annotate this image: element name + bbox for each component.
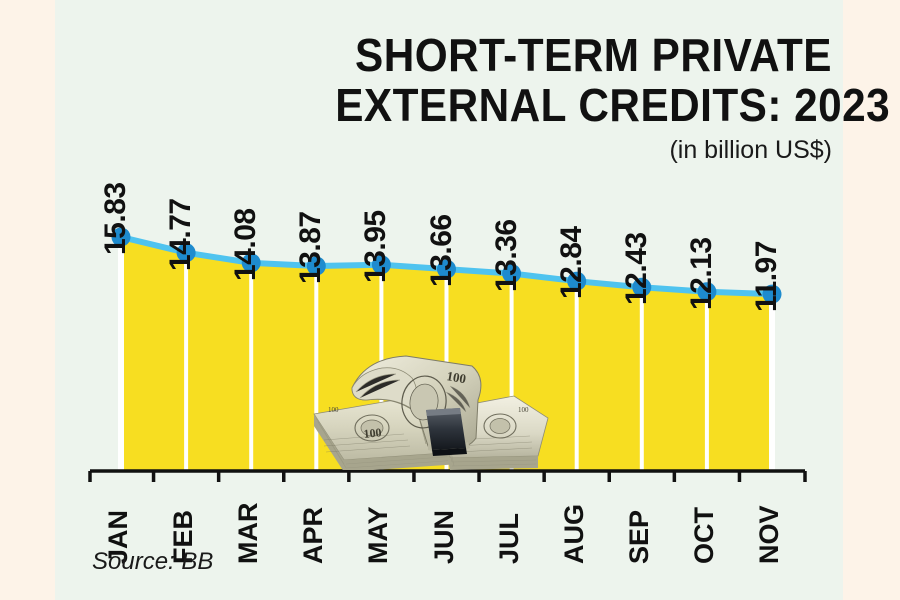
month-label-aug: AUG [559, 504, 590, 564]
month-label-jul: JUL [494, 513, 525, 564]
svg-text:100: 100 [363, 425, 382, 441]
svg-text:100: 100 [518, 406, 529, 414]
data-value-label: 14.77 [164, 198, 198, 271]
page-title-line-1: SHORT-TERM PRIVATE [335, 30, 832, 80]
x-axis [90, 471, 805, 482]
title-block: SHORT-TERM PRIVATE EXTERNAL CREDITS: 202… [292, 30, 832, 165]
data-value-label: 15.83 [99, 182, 133, 255]
month-label-jun: JUN [429, 510, 460, 564]
month-label-nov: NOV [754, 505, 785, 564]
month-label-may: MAY [363, 506, 394, 564]
money-photo: 100 100 100 [300, 352, 558, 470]
month-label-oct: OCT [689, 507, 720, 564]
infographic-page: SHORT-TERM PRIVATE EXTERNAL CREDITS: 202… [0, 0, 900, 600]
page-title-line-2: EXTERNAL CREDITS: 2023 [335, 80, 832, 130]
money-clip [426, 408, 467, 456]
data-value-label: 12.13 [685, 237, 719, 310]
month-label-sep: SEP [624, 510, 655, 564]
data-value-label: 13.66 [425, 214, 459, 287]
chart-subtitle: (in billion US$) [292, 136, 832, 165]
svg-text:100: 100 [328, 406, 339, 414]
data-value-label: 13.36 [490, 219, 524, 292]
month-label-mar: MAR [233, 503, 264, 565]
source-note: Source: BB [92, 548, 213, 576]
data-value-label: 12.84 [555, 227, 589, 300]
data-value-label: 14.08 [229, 208, 263, 281]
month-label-apr: APR [298, 507, 329, 564]
data-value-label: 13.87 [294, 211, 328, 284]
data-value-label: 12.43 [620, 233, 654, 306]
data-value-label: 13.95 [359, 210, 393, 283]
data-value-label: 11.97 [750, 241, 784, 312]
